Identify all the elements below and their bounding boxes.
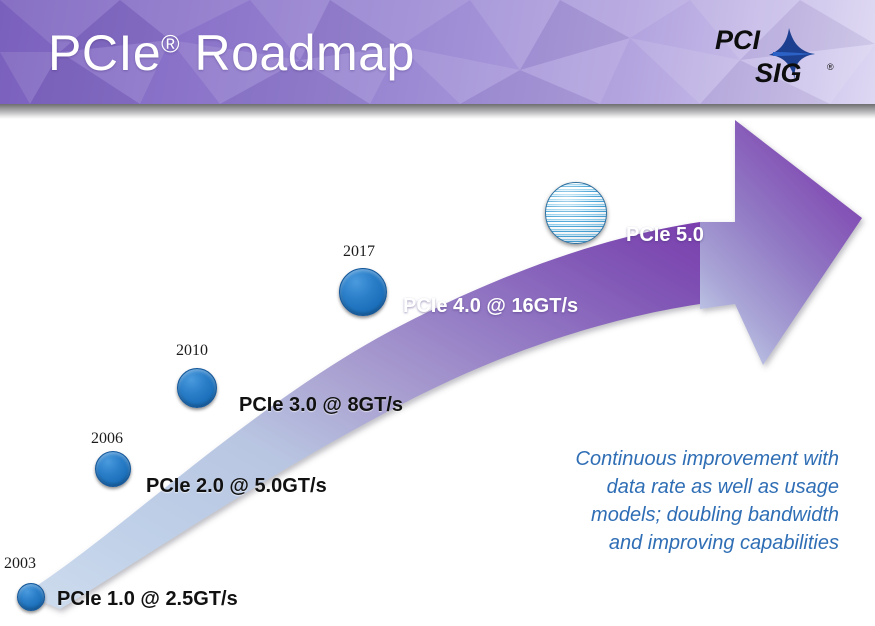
milestone-dot-pcie-5-0[interactable] xyxy=(545,182,607,244)
page-title: PCIe® Roadmap xyxy=(48,24,415,82)
year-label-2017: 2017 xyxy=(343,243,375,261)
milestone-dot-2017[interactable] xyxy=(339,268,387,316)
year-label-2010: 2010 xyxy=(176,342,208,360)
milestone-dot-2006[interactable] xyxy=(95,451,131,487)
milestone-label-pcie-3-0: PCIe 3.0 @ 8GT/s xyxy=(239,394,403,417)
milestone-label-pcie-2-0: PCIe 2.0 @ 5.0GT/s xyxy=(146,475,327,498)
registered-mark: ® xyxy=(161,30,180,58)
page-title-rest: Roadmap xyxy=(180,25,415,81)
caption-line-3: models; doubling bandwidth xyxy=(479,501,839,529)
page-title-main: PCIe xyxy=(48,25,161,81)
caption-line-4: and improving capabilities xyxy=(479,529,839,557)
milestone-dot-2003[interactable] xyxy=(17,583,45,611)
logo-sig-text: SIG xyxy=(755,58,802,88)
slide-header: PCIe® Roadmap PCI SIG ® xyxy=(0,0,875,104)
logo-registered-mark: ® xyxy=(827,62,834,72)
logo-pci-text: PCI xyxy=(715,25,761,55)
milestone-label-pcie-1-0: PCIe 1.0 @ 2.5GT/s xyxy=(57,588,238,611)
milestone-dot-2010[interactable] xyxy=(177,368,217,408)
year-label-2006: 2006 xyxy=(91,430,123,448)
arrow-head xyxy=(700,120,862,365)
roadmap-caption: Continuous improvement with data rate as… xyxy=(479,445,839,557)
milestone-label-pcie-5-0: PCIe 5.0 xyxy=(626,224,704,247)
caption-line-2: data rate as well as usage xyxy=(479,473,839,501)
slide-canvas: PCIe® Roadmap PCI SIG ® xyxy=(0,0,875,621)
caption-line-1: Continuous improvement with xyxy=(479,445,839,473)
pci-sig-logo: PCI SIG ® xyxy=(703,22,853,88)
year-label-2003: 2003 xyxy=(4,555,36,573)
milestone-label-pcie-4-0: PCIe 4.0 @ 16GT/s xyxy=(403,295,578,318)
